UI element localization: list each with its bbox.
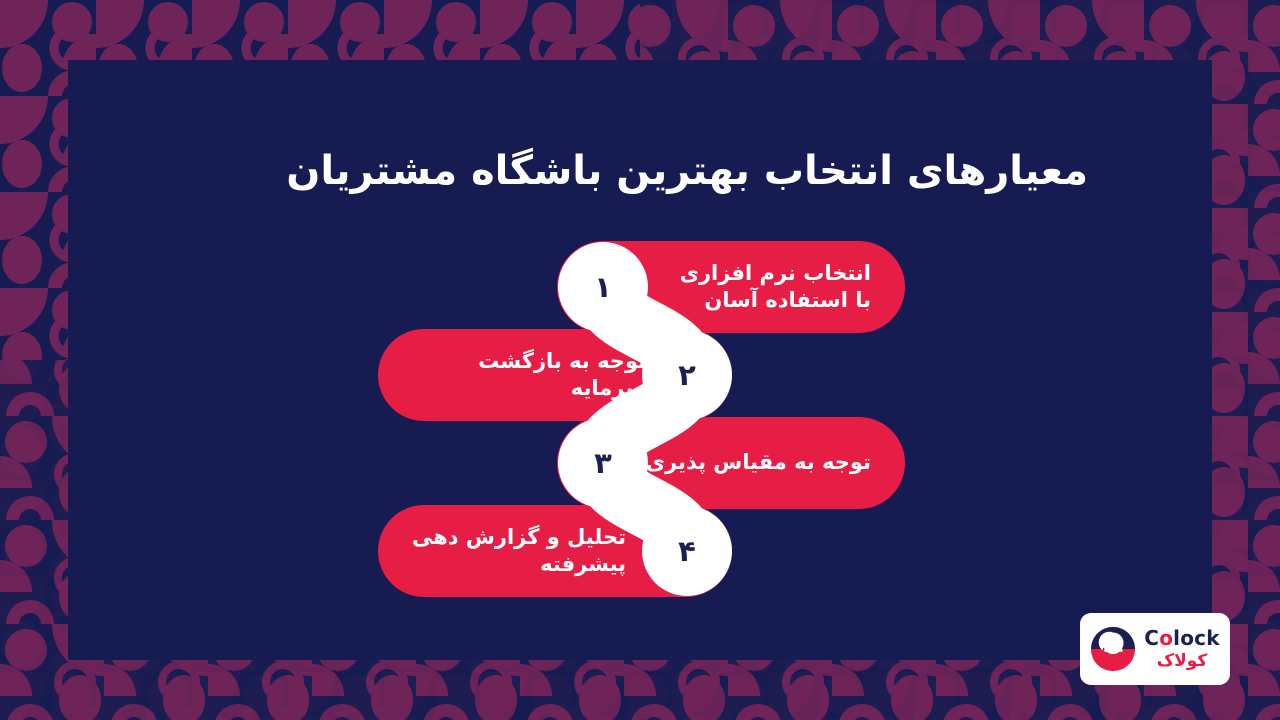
criteria-number: ۴ — [678, 534, 696, 568]
list-item: توجه به مقیاس پذیری ۳ — [0, 417, 1280, 509]
criteria-number: ۳ — [594, 446, 612, 480]
criteria-text: توجه به بازگشت سرمایه — [412, 348, 646, 403]
logo-persian-text: کولاک — [1157, 653, 1208, 670]
logo-latin-c: C — [1144, 626, 1159, 650]
criteria-list: انتخاب نرم افزاری با استفاده آسان ۱ توجه… — [0, 0, 1280, 720]
criteria-text: تحلیل و گزارش دهی پیشرفته — [412, 524, 626, 579]
criteria-number-badge: ۴ — [642, 506, 732, 596]
criteria-number: ۱ — [594, 270, 612, 304]
colock-mark-icon — [1090, 626, 1136, 672]
criteria-text: توجه به مقیاس پذیری — [646, 449, 871, 476]
criteria-number-badge: ۱ — [558, 242, 648, 332]
criteria-number-badge: ۳ — [558, 418, 648, 508]
criteria-text: انتخاب نرم افزاری با استفاده آسان — [680, 260, 871, 315]
list-item: توجه به بازگشت سرمایه ۲ — [0, 329, 1280, 421]
list-item: تحلیل و گزارش دهی پیشرفته ۴ — [0, 505, 1280, 597]
logo-latin-text: Colock — [1144, 628, 1219, 648]
slide-canvas: معیارهای انتخاب بهترین باشگاه مشتریان ان… — [0, 0, 1280, 720]
logo-wordmark: Colock کولاک — [1144, 628, 1219, 670]
criteria-number-badge: ۲ — [642, 330, 732, 420]
logo-latin-o: o — [1159, 626, 1173, 650]
logo[interactable]: Colock کولاک — [1080, 613, 1230, 685]
logo-latin-rest: lock — [1173, 626, 1220, 650]
criteria-number: ۲ — [678, 358, 696, 392]
list-item: انتخاب نرم افزاری با استفاده آسان ۱ — [0, 241, 1280, 333]
